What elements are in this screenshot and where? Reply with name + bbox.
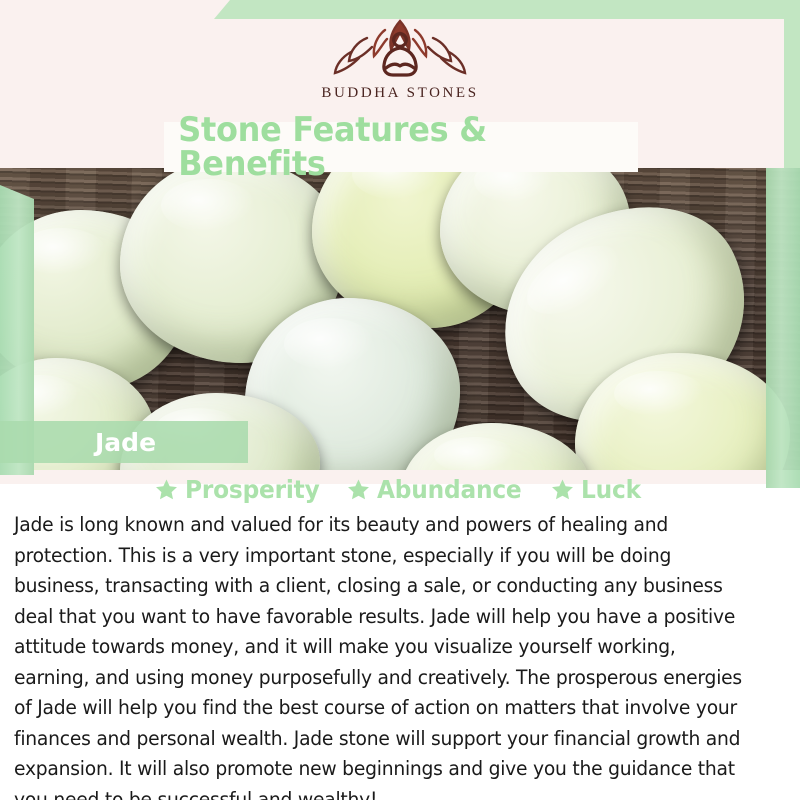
content-panel: Prosperity Abundance Luck Jade is long k… (0, 470, 800, 800)
benefit-label: Abundance (377, 477, 522, 502)
page-title: Stone Features & Benefits (178, 113, 624, 181)
benefit-item: Prosperity (155, 477, 330, 502)
stone-name: Jade (95, 430, 156, 455)
benefit-item: Luck (551, 477, 645, 502)
benefit-label: Prosperity (185, 477, 320, 502)
stone-name-band: Jade (0, 421, 248, 463)
description-text: Jade is long known and valued for its be… (14, 510, 755, 800)
benefit-item: Abundance (347, 477, 532, 502)
brand-name: BUDDHA STONES (321, 85, 478, 102)
star-icon (155, 478, 178, 501)
star-icon (347, 478, 370, 501)
benefits-row: Prosperity Abundance Luck (0, 477, 800, 502)
benefit-label: Luck (581, 477, 641, 502)
star-icon (551, 478, 574, 501)
section-title-banner: Stone Features & Benefits (164, 122, 638, 172)
lotus-meditation-icon (329, 16, 471, 82)
brand-header: BUDDHA STONES (0, 0, 800, 118)
infographic-card: BUDDHA STONES Stone Features & Benefits … (0, 0, 800, 800)
